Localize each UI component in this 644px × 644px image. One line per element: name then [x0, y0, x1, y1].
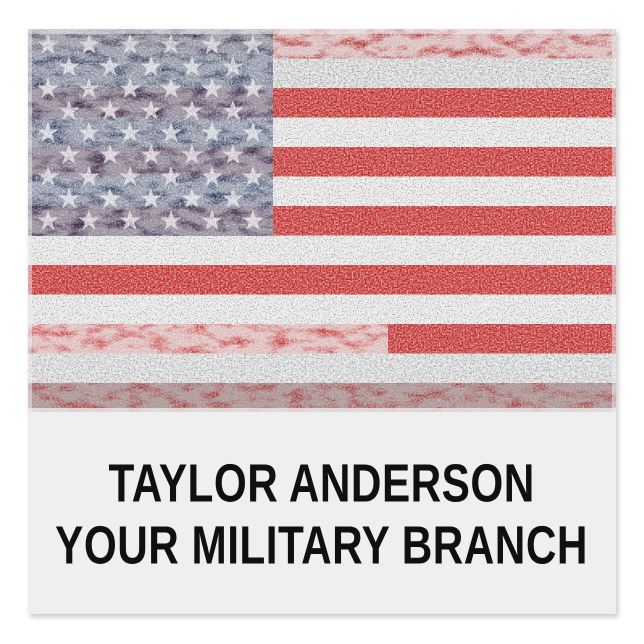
- poster-canvas: TAYLOR ANDERSON YOUR MILITARY BRANCH: [0, 0, 644, 644]
- distressed-flag-svg: [28, 29, 616, 413]
- poster-sheet: TAYLOR ANDERSON YOUR MILITARY BRANCH: [28, 29, 616, 614]
- poster-caption: TAYLOR ANDERSON YOUR MILITARY BRANCH: [28, 413, 616, 614]
- caption-line-branch: YOUR MILITARY BRANCH: [56, 518, 589, 571]
- caption-line-name: TAYLOR ANDERSON: [109, 456, 535, 509]
- flag-artwork: [28, 29, 616, 413]
- flag-global-distress: [28, 29, 616, 413]
